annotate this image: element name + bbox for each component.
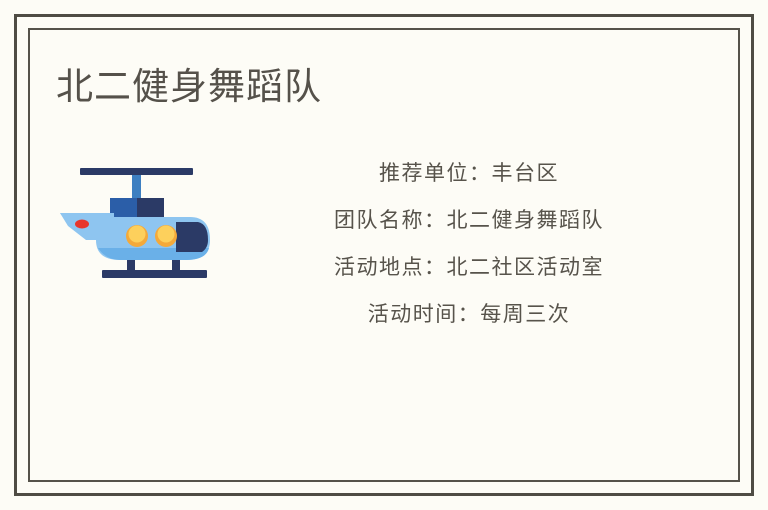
helicopter-illustration [58,160,218,280]
info-line-team-name: 团队名称：北二健身舞蹈队 [224,197,714,244]
info-line-recommending-unit: 推荐单位：丰台区 [224,150,714,197]
info-line-activity-location: 活动地点：北二社区活动室 [224,244,714,291]
page-title: 北二健身舞蹈队 [56,62,322,112]
info-line-activity-time: 活动时间：每周三次 [224,291,714,338]
content-area: 推荐单位：丰台区 团队名称：北二健身舞蹈队 活动地点：北二社区活动室 活动时间：… [28,150,740,370]
helicopter-icon [58,160,218,280]
info-block: 推荐单位：丰台区 团队名称：北二健身舞蹈队 活动地点：北二社区活动室 活动时间：… [224,150,714,338]
page-root: 北二健身舞蹈队 [0,0,768,510]
